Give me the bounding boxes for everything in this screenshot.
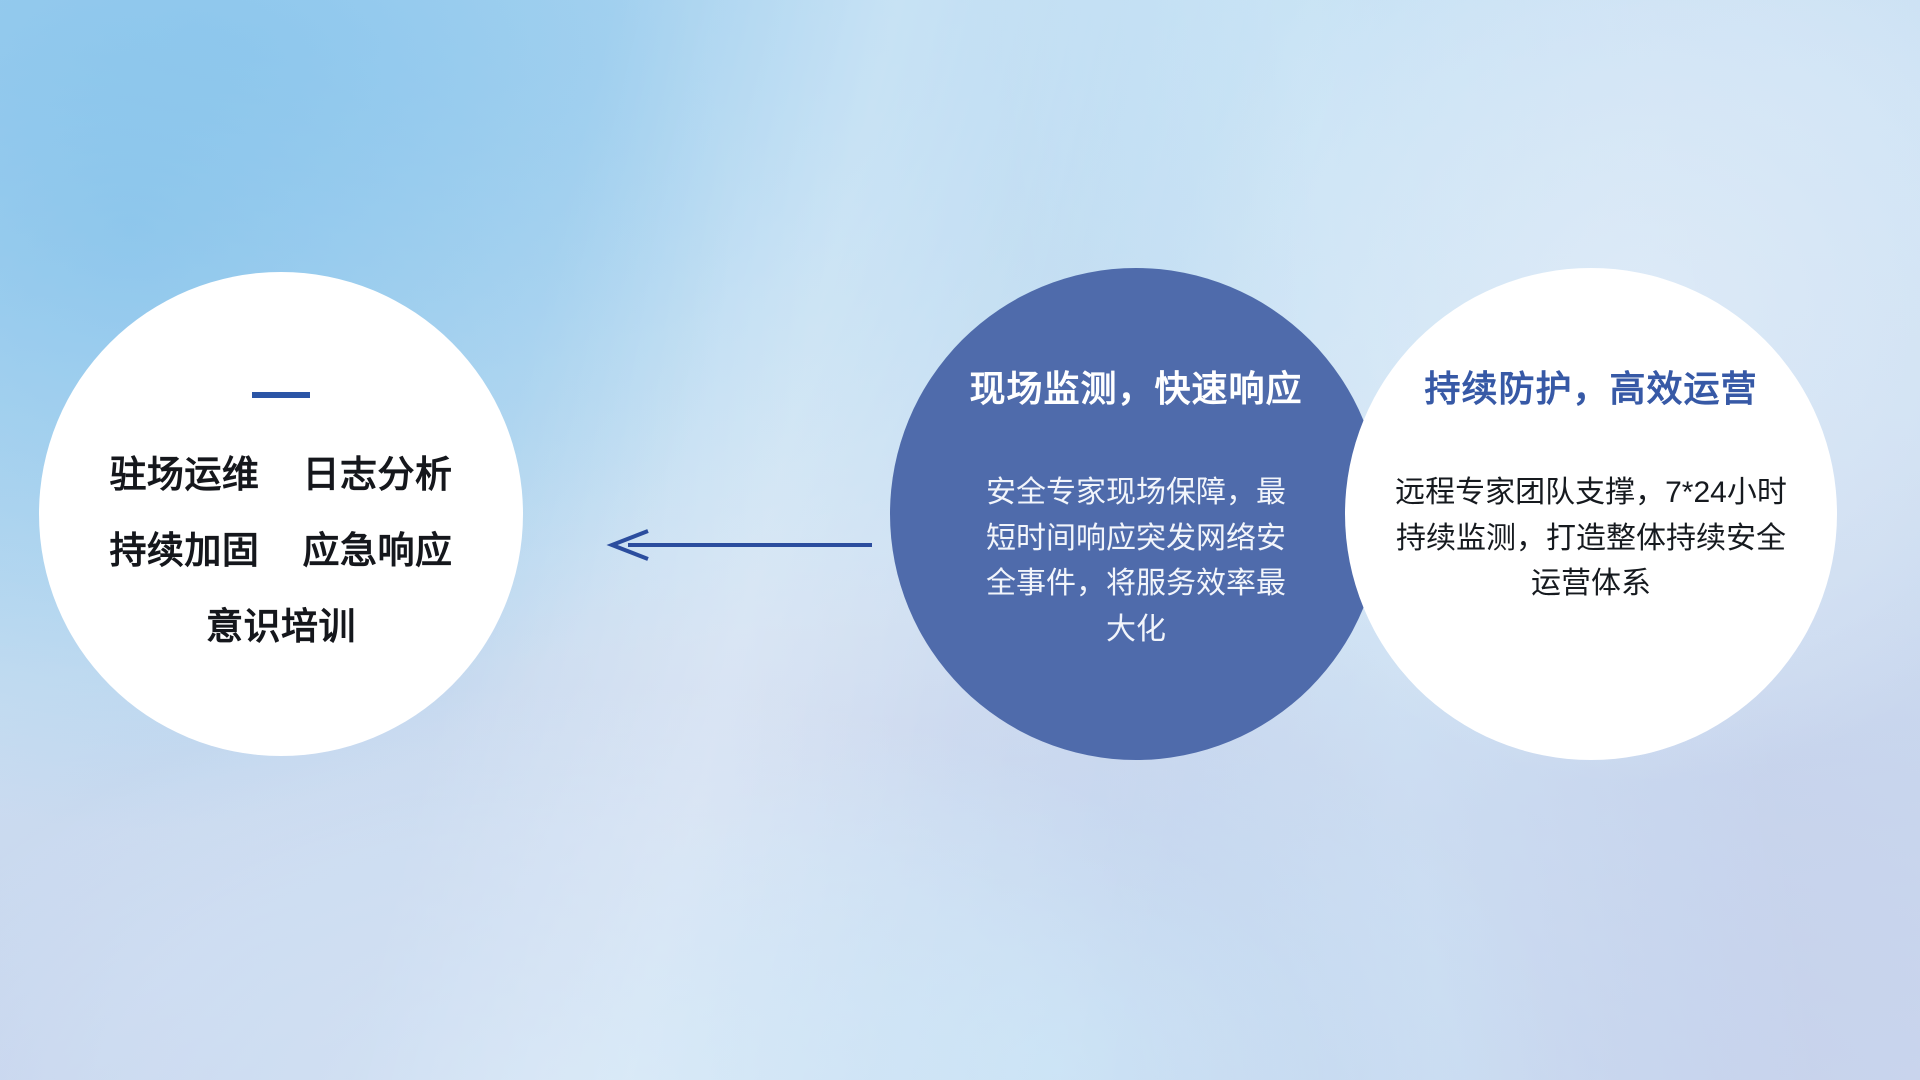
left-pointing-arrow — [612, 531, 872, 559]
continuous-circle-title: 持续防护，高效运营 — [1424, 360, 1757, 412]
capabilities-circle[interactable]: 驻场运维 日志分析 持续加固 应急响应 意识培训 — [39, 272, 523, 756]
continuous-circle-body: 远程专家团队支撑，7*24小时持续监测，打造整体持续安全运营体系 — [1385, 470, 1797, 607]
capability-row-2: 持续加固 应急响应 — [109, 532, 452, 569]
capability-row-3: 意识培训 — [206, 608, 356, 645]
capability-row-1: 驻场运维 日志分析 — [109, 456, 452, 493]
onsite-monitoring-circle[interactable]: 现场监测，快速响应 安全专家现场保障，最短时间响应突发网络安全事件，将服务效率最… — [890, 268, 1382, 760]
title-divider — [252, 392, 310, 398]
onsite-circle-title: 现场监测，快速响应 — [969, 360, 1302, 412]
continuous-operations-circle[interactable]: 持续防护，高效运营 远程专家团队支撑，7*24小时持续监测，打造整体持续安全运营… — [1345, 268, 1837, 760]
onsite-circle-body: 安全专家现场保障，最短时间响应突发网络安全事件，将服务效率最大化 — [986, 470, 1286, 652]
